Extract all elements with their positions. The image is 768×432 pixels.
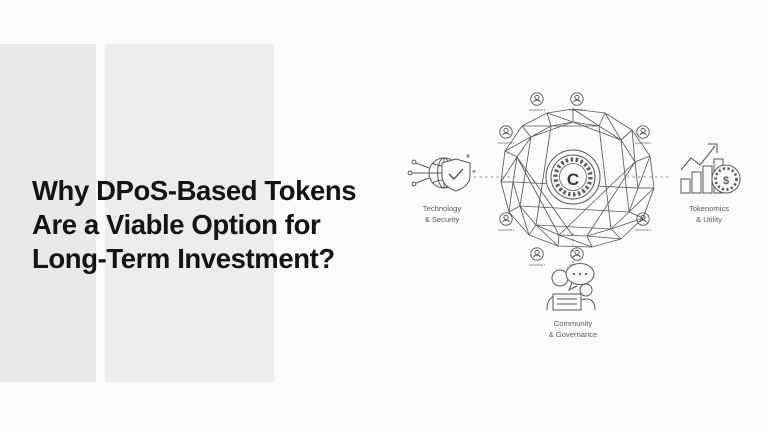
- validator-label: VALIDATOR 3: [498, 141, 515, 145]
- pillar-community-governance: Community & Governance: [547, 264, 597, 340]
- pillar-tokenomics-utility: $ Tokenomics & Utility: [681, 144, 740, 224]
- validator-label: VALIDATOR 1: [529, 108, 546, 112]
- pillar-label-line1: Community: [554, 319, 593, 328]
- validator-label: VALIDATOR 6: [635, 228, 652, 232]
- coin-symbol: C: [567, 170, 579, 189]
- slide-canvas: Why DPoS-Based Tokens Are a Viable Optio…: [0, 0, 768, 432]
- page-title: Why DPoS-Based Tokens Are a Viable Optio…: [32, 174, 432, 276]
- validator-label: VALIDATOR 5: [498, 228, 515, 232]
- validator-node-4: VALIDATOR 4: [635, 126, 652, 145]
- validator-label: VALIDATOR 2: [569, 108, 586, 112]
- validator-node-6: VALIDATOR 6: [635, 213, 652, 232]
- svg-text:$: $: [723, 175, 729, 187]
- coin-c-icon: C: [546, 150, 600, 204]
- people-speech-bubble-icon: [547, 264, 595, 311]
- validator-label: VALIDATOR 7: [529, 263, 546, 267]
- pillar-label-line1: Tokenomics: [689, 204, 729, 213]
- pillar-label-line2: & Utility: [696, 215, 722, 224]
- bar-chart-growth-dollar-icon: $: [681, 144, 740, 193]
- validator-node-7: VALIDATOR 7: [529, 248, 546, 267]
- validator-node-2: VALIDATOR 2: [569, 93, 586, 112]
- validator-node-3: VALIDATOR 3: [498, 126, 515, 145]
- pillar-label-line2: & Governance: [549, 330, 598, 339]
- dpos-network-diagram: C VALIDATOR 1 VALIDATOR 2 VALIDATOR 3 VA…: [400, 78, 768, 358]
- validator-label: VALIDATOR 4: [635, 141, 652, 145]
- validator-node-1: VALIDATOR 1: [529, 93, 546, 112]
